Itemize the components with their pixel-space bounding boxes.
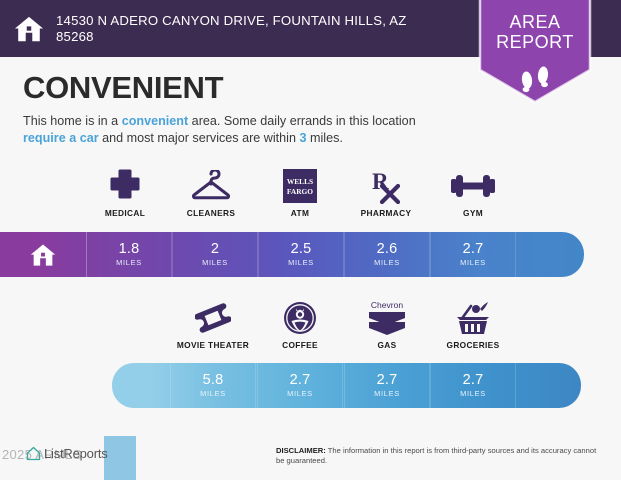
desc-highlight-require-car: require a car	[23, 131, 99, 145]
chevron-gas-icon: Chevron	[344, 298, 430, 338]
area-report-badge: AREA REPORT	[472, 0, 598, 110]
distance-unit: MILES	[200, 389, 226, 398]
amenity-icon-row-2: MOVIE THEATER COFFEE Chevron	[0, 298, 621, 356]
distance-cell-movie-theater: 5.8 MILES	[170, 363, 256, 408]
bar-home-marker	[0, 232, 87, 277]
badge-shape-icon	[472, 0, 598, 110]
page-title: CONVENIENT	[23, 70, 223, 106]
wells-fargo-icon: WELLS FARGO	[257, 166, 343, 206]
home-icon	[14, 14, 44, 44]
distance-cell-groceries: 2.7 MILES	[430, 363, 516, 408]
distance-cell-pharmacy: 2.6 MILES	[344, 232, 430, 277]
watermark-strip	[104, 436, 136, 480]
distance-unit: MILES	[460, 258, 486, 267]
amenity-icon-row-1: MEDICAL CLEANERS WELLS FARGO ATM	[0, 166, 621, 224]
desc-highlight-convenient: convenient	[122, 114, 188, 128]
distance-cell-coffee: 2.7 MILES	[257, 363, 343, 408]
distance-unit: MILES	[287, 389, 313, 398]
desc-part-1: This home is in a	[23, 114, 122, 128]
movie-ticket-icon	[170, 298, 256, 338]
amenity-coffee: COFFEE	[257, 298, 343, 350]
svg-text:WELLS: WELLS	[287, 177, 313, 186]
distance-bar-row-2: 5.8 MILES 2.7 MILES 2.7 MILES 2.7 MILES	[112, 363, 581, 408]
property-address: 14530 N ADERO CANYON DRIVE, FOUNTAIN HIL…	[56, 13, 416, 45]
distance-cell-cleaners: 2 MILES	[172, 232, 258, 277]
distance-value: 2.6	[377, 242, 398, 257]
amenity-atm: WELLS FARGO ATM	[257, 166, 343, 218]
amenity-medical: MEDICAL	[82, 166, 168, 218]
listreports-brand: ListReports	[26, 446, 108, 461]
clothes-hanger-icon	[168, 166, 254, 206]
amenity-label: COFFEE	[257, 340, 343, 350]
disclaimer: DISCLAIMER: The information in this repo…	[276, 446, 598, 466]
medical-cross-icon	[82, 166, 168, 206]
distance-cell-atm: 2.5 MILES	[258, 232, 344, 277]
distance-value: 2.7	[377, 373, 398, 388]
amenity-label: CLEANERS	[168, 208, 254, 218]
amenity-label: MOVIE THEATER	[170, 340, 256, 350]
amenity-gas: Chevron GAS	[344, 298, 430, 350]
home-icon	[30, 242, 56, 268]
distance-value: 2.7	[463, 373, 484, 388]
distance-unit: MILES	[374, 389, 400, 398]
amenity-pharmacy: R PHARMACY	[343, 166, 429, 218]
distance-value: 5.8	[203, 373, 224, 388]
listreports-house-icon	[26, 446, 41, 461]
distance-value: 2.7	[290, 373, 311, 388]
distance-bar-row-1: 1.8 MILES 2 MILES 2.5 MILES 2.6 MILES 2.…	[0, 232, 584, 277]
distance-cell-medical: 1.8 MILES	[86, 232, 172, 277]
starbucks-icon	[257, 298, 343, 338]
distance-unit: MILES	[374, 258, 400, 267]
amenity-label: GAS	[344, 340, 430, 350]
distance-cell-gas: 2.7 MILES	[344, 363, 430, 408]
area-report-page: 14530 N ADERO CANYON DRIVE, FOUNTAIN HIL…	[0, 0, 621, 480]
amenity-label: GROCERIES	[430, 340, 516, 350]
desc-highlight-miles: 3	[299, 131, 306, 145]
dumbbell-icon	[430, 166, 516, 206]
amenity-label: MEDICAL	[82, 208, 168, 218]
amenity-groceries: GROCERIES	[430, 298, 516, 350]
amenity-cleaners: CLEANERS	[168, 166, 254, 218]
disclaimer-label: DISCLAIMER:	[276, 446, 326, 455]
rx-prescription-icon: R	[343, 166, 429, 206]
distance-unit: MILES	[116, 258, 142, 267]
distance-value: 1.8	[119, 242, 140, 257]
desc-part-3: and most major services are within	[99, 131, 300, 145]
distance-unit: MILES	[288, 258, 314, 267]
amenity-label: ATM	[257, 208, 343, 218]
desc-part-2: area. Some daily errands in this locatio…	[188, 114, 416, 128]
distance-unit: MILES	[460, 389, 486, 398]
distance-value: 2.7	[463, 242, 484, 257]
amenity-gym: GYM	[430, 166, 516, 218]
desc-part-4: miles.	[307, 131, 343, 145]
svg-text:Chevron: Chevron	[371, 300, 403, 310]
amenity-label: PHARMACY	[343, 208, 429, 218]
amenity-movie-theater: MOVIE THEATER	[170, 298, 256, 350]
distance-value: 2.5	[291, 242, 312, 257]
distance-value: 2	[211, 242, 219, 257]
page-description: This home is in a convenient area. Some …	[23, 113, 443, 146]
amenity-label: GYM	[430, 208, 516, 218]
svg-text:FARGO: FARGO	[287, 187, 313, 196]
distance-cell-gym: 2.7 MILES	[430, 232, 516, 277]
grocery-basket-icon	[430, 298, 516, 338]
distance-unit: MILES	[202, 258, 228, 267]
brand-name: ListReports	[44, 446, 108, 461]
